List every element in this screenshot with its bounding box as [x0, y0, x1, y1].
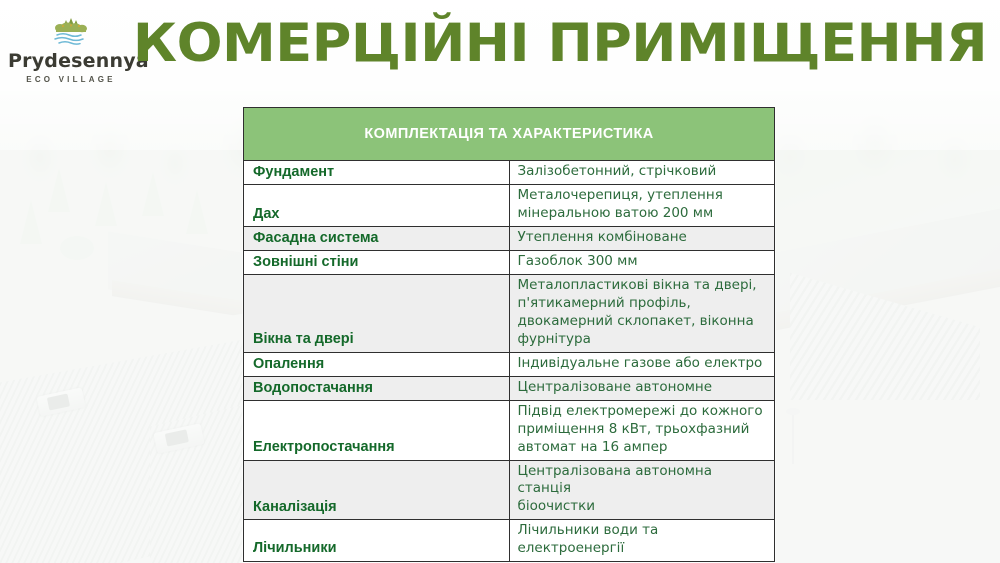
spec-value-line: Газоблок 300 мм — [518, 253, 769, 271]
spec-key-cell: Лічильники — [244, 520, 510, 562]
spec-key-cell: Зовнішні стіни — [244, 251, 510, 275]
table-row: ВодопостачанняЦентралізоване автономне — [244, 376, 775, 400]
table-header-row: КОМПЛЕКТАЦІЯ ТА ХАРАКТЕРИСТИКА — [244, 108, 775, 161]
table-row: Зовнішні стіниГазоблок 300 мм — [244, 251, 775, 275]
spec-value-cell: Підвід електромережі до кожногоприміщенн… — [509, 401, 775, 460]
specification-table: КОМПЛЕКТАЦІЯ ТА ХАРАКТЕРИСТИКА Фундамент… — [243, 107, 775, 562]
spec-value-cell: Індивідуальне газове або електро — [509, 352, 775, 376]
table-row: ЕлектропостачанняПідвід електромережі до… — [244, 401, 775, 460]
spec-value-line: біоочистки — [518, 498, 769, 516]
spec-value-line: двокамерний склопакет, віконна — [518, 313, 769, 331]
spec-key-cell: Каналізація — [244, 460, 510, 519]
brand-tagline: ECO VILLAGE — [8, 76, 134, 84]
spec-value-cell: Газоблок 300 мм — [509, 251, 775, 275]
spec-value-line: Металочерепиця, утеплення — [518, 187, 769, 205]
table-row: ЛічильникиЛічильники води та електроенер… — [244, 520, 775, 562]
table-row: Фасадна системаУтеплення комбіноване — [244, 226, 775, 250]
slide-canvas: Prydesennya ECO VILLAGE КОМЕРЦІЙНІ ПРИМІ… — [0, 0, 1000, 563]
spec-value-line: Централізоване автономне — [518, 379, 769, 397]
spec-value-line: Індивідуальне газове або електро — [518, 355, 769, 373]
page-title: КОМЕРЦІЙНІ ПРИМІЩЕННЯ — [132, 17, 989, 70]
spec-key-cell: Фасадна система — [244, 226, 510, 250]
spec-value-cell: Залізобетонний, стрічковий — [509, 161, 775, 185]
spec-value-cell: Утеплення комбіноване — [509, 226, 775, 250]
spec-value-line: автомат на 16 ампер — [518, 439, 769, 457]
spec-value-line: Металопластикові вікна та двері, — [518, 277, 769, 295]
spec-value-line: фурнітура — [518, 331, 769, 349]
table-header-title: КОМПЛЕКТАЦІЯ ТА ХАРАКТЕРИСТИКА — [244, 108, 775, 161]
spec-value-cell: Лічильники води та електроенергії — [509, 520, 775, 562]
spec-value-cell: Металочерепиця, утепленнямінеральною ват… — [509, 185, 775, 227]
spec-value-line: мінеральною ватою 200 мм — [518, 205, 769, 223]
spec-value-line: п'ятикамерний профіль, — [518, 295, 769, 313]
table-row: ДахМеталочерепиця, утепленнямінеральною … — [244, 185, 775, 227]
spec-value-line: Лічильники води та електроенергії — [518, 522, 769, 558]
spec-value-cell: Металопластикові вікна та двері,п'ятикам… — [509, 275, 775, 352]
eco-village-emblem-icon — [44, 16, 98, 48]
spec-value-line: приміщення 8 кВт, трьохфазний — [518, 421, 769, 439]
spec-key-cell: Вікна та двері — [244, 275, 510, 352]
brand-logo[interactable]: Prydesennya ECO VILLAGE — [8, 16, 134, 84]
spec-value-cell: Централізована автономна станціябіоочист… — [509, 460, 775, 519]
table-row: ОпаленняІндивідуальне газове або електро — [244, 352, 775, 376]
table-body: ФундаментЗалізобетонний, стрічковийДахМе… — [244, 161, 775, 562]
spec-value-cell: Централізоване автономне — [509, 376, 775, 400]
spec-value-line: Централізована автономна станція — [518, 463, 769, 499]
spec-key-cell: Дах — [244, 185, 510, 227]
spec-value-line: Залізобетонний, стрічковий — [518, 163, 769, 181]
table-row: Вікна та дверіМеталопластикові вікна та … — [244, 275, 775, 352]
spec-key-cell: Опалення — [244, 352, 510, 376]
table-row: ФундаментЗалізобетонний, стрічковий — [244, 161, 775, 185]
spec-value-line: Підвід електромережі до кожного — [518, 403, 769, 421]
table-row: КаналізаціяЦентралізована автономна стан… — [244, 460, 775, 519]
spec-key-cell: Водопостачання — [244, 376, 510, 400]
spec-key-cell: Електропостачання — [244, 401, 510, 460]
spec-key-cell: Фундамент — [244, 161, 510, 185]
brand-name: Prydesennya — [8, 52, 134, 71]
spec-value-line: Утеплення комбіноване — [518, 229, 769, 247]
